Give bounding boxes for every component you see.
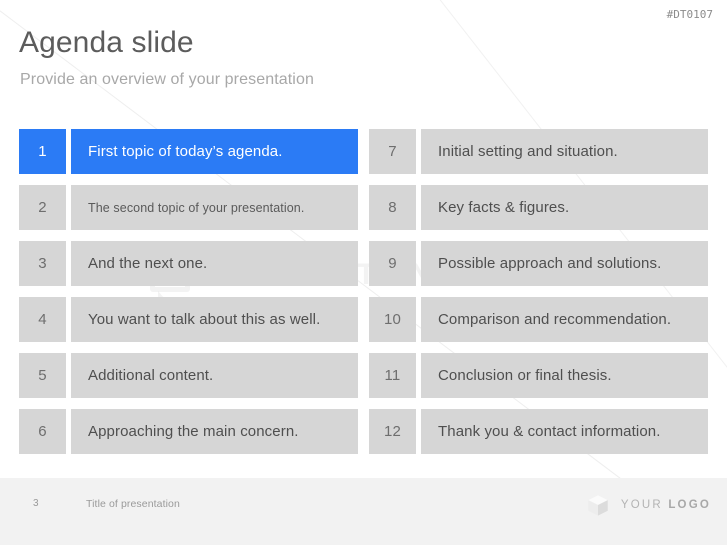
slide-footer: 3 Title of presentation YOUR LOGO (0, 478, 727, 545)
logo-word-your: YOUR (621, 499, 663, 511)
agenda-row-text: And the next one. (71, 241, 358, 286)
agenda-row-number: 7 (369, 129, 416, 174)
document-code: #DT0107 (667, 8, 713, 21)
agenda-row-number: 11 (369, 353, 416, 398)
agenda-row-number: 12 (369, 409, 416, 454)
agenda-row[interactable]: 2The second topic of your presentation. (19, 185, 358, 230)
agenda-row-text: You want to talk about this as well. (71, 297, 358, 342)
agenda-row[interactable]: 10Comparison and recommendation. (369, 297, 708, 342)
footer-presentation-title: Title of presentation (86, 498, 180, 510)
agenda-row[interactable]: 7Initial setting and situation. (369, 129, 708, 174)
agenda-row-text: Additional content. (71, 353, 358, 398)
agenda-row-number: 4 (19, 297, 66, 342)
page-title: Agenda slide (19, 26, 194, 60)
agenda-row[interactable]: 12Thank you & contact information. (369, 409, 708, 454)
footer-page-number: 3 (33, 498, 39, 509)
agenda-row-number: 1 (19, 129, 66, 174)
agenda-row-text: The second topic of your presentation. (71, 185, 358, 230)
agenda-row-text: Comparison and recommendation. (421, 297, 708, 342)
agenda-column-right: 7Initial setting and situation.8Key fact… (369, 129, 708, 465)
agenda-row[interactable]: 3And the next one. (19, 241, 358, 286)
agenda-row-text: First topic of today’s agenda. (71, 129, 358, 174)
agenda-row-text: Initial setting and situation. (421, 129, 708, 174)
agenda-row-number: 2 (19, 185, 66, 230)
agenda-row-number: 5 (19, 353, 66, 398)
agenda-row-text: Possible approach and solutions. (421, 241, 708, 286)
agenda-row[interactable]: 11Conclusion or final thesis. (369, 353, 708, 398)
agenda-row[interactable]: 9Possible approach and solutions. (369, 241, 708, 286)
agenda-row-number: 9 (369, 241, 416, 286)
agenda-row-text: Key facts & figures. (421, 185, 708, 230)
logo-word-logo: LOGO (668, 499, 711, 511)
agenda-row-number: 3 (19, 241, 66, 286)
slide-canvas: #DT0107 Agenda slide Provide an overview… (0, 0, 727, 545)
agenda-row[interactable]: 1First topic of today’s agenda. (19, 129, 358, 174)
agenda-row-text: Conclusion or final thesis. (421, 353, 708, 398)
cube-icon (585, 492, 611, 518)
agenda-row-text: Approaching the main concern. (71, 409, 358, 454)
agenda-row-number: 6 (19, 409, 66, 454)
agenda-row[interactable]: 8Key facts & figures. (369, 185, 708, 230)
agenda-row-number: 8 (369, 185, 416, 230)
agenda-row[interactable]: 6Approaching the main concern. (19, 409, 358, 454)
agenda-row[interactable]: 5Additional content. (19, 353, 358, 398)
logo-placeholder: YOUR LOGO (585, 492, 711, 518)
logo-text: YOUR LOGO (621, 499, 711, 511)
page-subtitle: Provide an overview of your presentation (20, 71, 314, 89)
agenda-column-left: 1First topic of today’s agenda.2The seco… (19, 129, 358, 465)
agenda-row-number: 10 (369, 297, 416, 342)
agenda-row-text: Thank you & contact information. (421, 409, 708, 454)
agenda-row[interactable]: 4You want to talk about this as well. (19, 297, 358, 342)
